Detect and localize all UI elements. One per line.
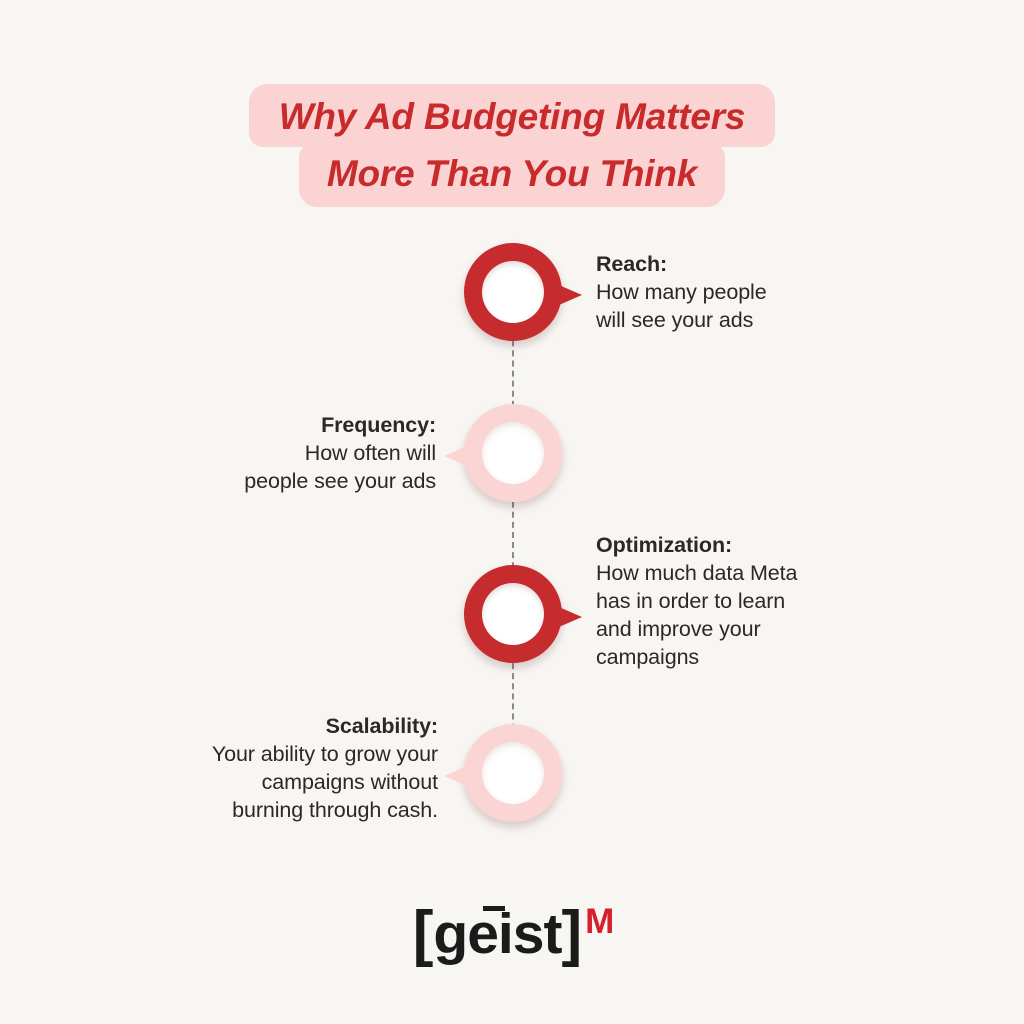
marker-scalability[interactable] [464, 724, 562, 822]
marker-ring-inner [482, 422, 544, 484]
text-block-frequency: Frequency: How often will people see you… [100, 411, 436, 495]
marker-ring-inner [482, 261, 544, 323]
marker-optimization[interactable] [464, 565, 562, 663]
body-optimization-line-4: campaigns [596, 643, 956, 671]
logo-bracket-close: ] [561, 899, 582, 968]
logo-macron-icon [483, 906, 505, 911]
logo-wordmark: geist [433, 902, 561, 966]
marker-ring-inner [482, 742, 544, 804]
text-block-scalability: Scalability: Your ability to grow your c… [60, 712, 438, 824]
body-scalability-line-3: burning through cash. [60, 796, 438, 824]
heading-frequency: Frequency: [100, 411, 436, 439]
marker-reach[interactable] [464, 243, 562, 341]
logo-bracket-open: [ [413, 899, 434, 968]
heading-reach: Reach: [596, 250, 926, 278]
title-line-1: Why Ad Budgeting Matters [249, 84, 776, 147]
body-optimization-line-2: has in order to learn [596, 587, 956, 615]
marker-tail-right-icon [552, 282, 582, 308]
marker-tail-left-icon [444, 763, 474, 789]
marker-ring-inner [482, 583, 544, 645]
page-title: Why Ad Budgeting Matters More Than You T… [0, 84, 1024, 207]
text-block-optimization: Optimization: How much data Meta has in … [596, 531, 956, 671]
title-line-2: More Than You Think [299, 143, 725, 207]
title-line-1-row: Why Ad Budgeting Matters [0, 84, 1024, 147]
body-optimization-line-1: How much data Meta [596, 559, 956, 587]
logo-word-text: geist [433, 902, 561, 966]
title-line-2-row: More Than You Think [0, 147, 1024, 207]
text-block-reach: Reach: How many people will see your ads [596, 250, 926, 334]
heading-optimization: Optimization: [596, 531, 956, 559]
marker-tail-right-icon [552, 604, 582, 630]
body-scalability-line-1: Your ability to grow your [60, 740, 438, 768]
body-scalability-line-2: campaigns without [60, 768, 438, 796]
logo-superscript-m: M [585, 902, 614, 941]
body-frequency-line-1: How often will [100, 439, 436, 467]
body-reach-line-2: will see your ads [596, 306, 926, 334]
marker-frequency[interactable] [464, 404, 562, 502]
marker-tail-left-icon [444, 443, 474, 469]
body-reach-line-1: How many people [596, 278, 926, 306]
body-frequency-line-2: people see your ads [100, 467, 436, 495]
body-optimization-line-3: and improve your [596, 615, 956, 643]
heading-scalability: Scalability: [60, 712, 438, 740]
brand-logo: [geist]M [0, 898, 1024, 969]
timeline-connector-line [512, 300, 514, 780]
infographic-canvas: Why Ad Budgeting Matters More Than You T… [0, 0, 1024, 1024]
